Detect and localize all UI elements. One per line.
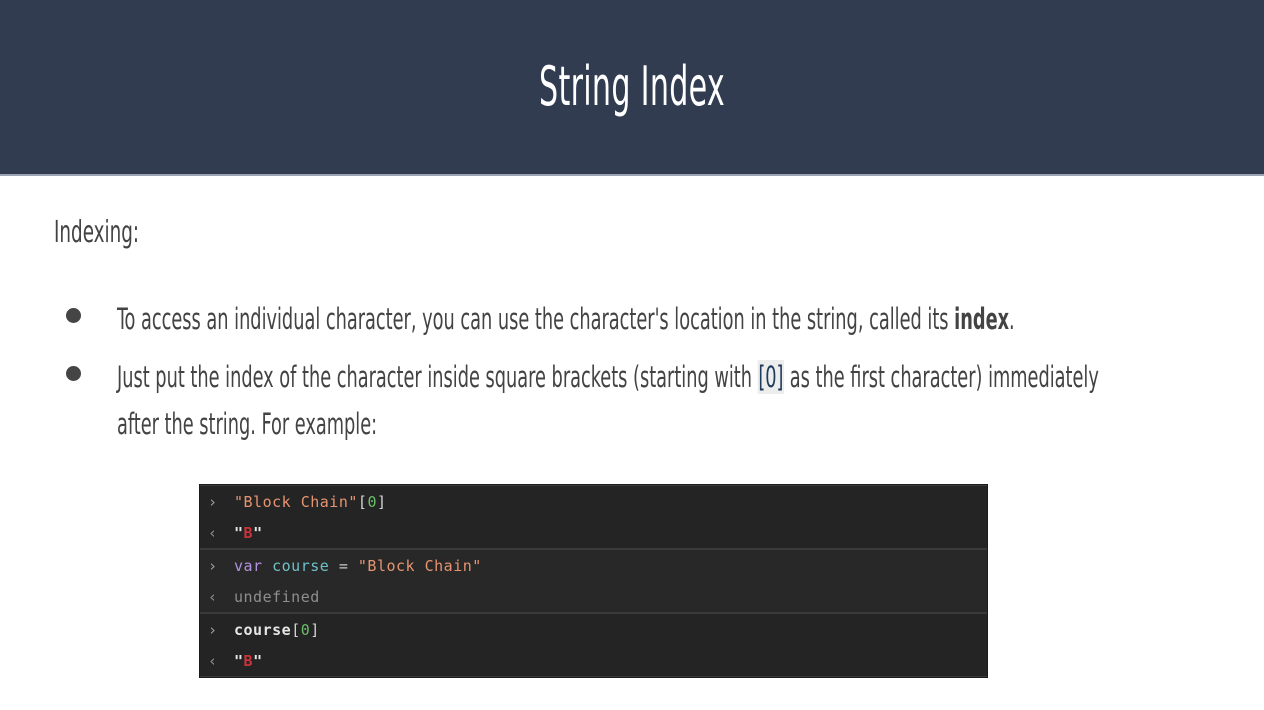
token-bracket-open: [ bbox=[358, 493, 368, 511]
devtools-console[interactable]: › "Block Chain"[0] ‹ "B" › var course = … bbox=[200, 485, 987, 677]
token-keyword: var bbox=[234, 557, 263, 575]
bullet-2-part-1: Just put the index of the character insi… bbox=[117, 360, 758, 394]
prompt-chevron-icon: › bbox=[208, 557, 234, 575]
console-input-2: var course = "Block Chain" bbox=[234, 557, 482, 575]
list-item: To access an individual character, you c… bbox=[54, 296, 1214, 344]
console-group-1: › "Block Chain"[0] ‹ "B" bbox=[200, 485, 987, 549]
bullet-1-keyword: index bbox=[954, 302, 1009, 336]
bullet-2-line-1: Just put the index of the character insi… bbox=[117, 354, 1099, 401]
bullet-2-text: Just put the index of the character insi… bbox=[117, 354, 1214, 448]
bullet-1-part-3: . bbox=[1009, 302, 1015, 336]
console-group-2: › var course = "Block Chain" ‹ undefined bbox=[200, 549, 987, 613]
token-undefined: undefined bbox=[234, 588, 320, 606]
page-title: String Index bbox=[539, 60, 725, 114]
console-group-3: › course[0] ‹ "B" bbox=[200, 613, 987, 677]
console-output-line: ‹ "B" bbox=[200, 517, 987, 548]
list-item: Just put the index of the character insi… bbox=[54, 354, 1214, 448]
console-input-3: course[0] bbox=[234, 621, 320, 639]
token-result-char: B bbox=[244, 524, 254, 542]
token-bracket-open: [ bbox=[291, 621, 301, 639]
prompt-chevron-icon: › bbox=[208, 493, 234, 511]
bullet-list: To access an individual character, you c… bbox=[54, 296, 1214, 458]
console-output-line: ‹ "B" bbox=[200, 645, 987, 676]
slide-body: Indexing: To access an individual charac… bbox=[0, 178, 1264, 710]
indexing-label-text: Indexing: bbox=[54, 216, 139, 249]
bullet-1-part-1: To access an individual character, you c… bbox=[117, 302, 954, 336]
slide-header: String Index bbox=[0, 0, 1264, 176]
bullet-dot-icon bbox=[66, 308, 81, 323]
bullet-2-part-3: as the first character) immediately bbox=[784, 360, 1099, 394]
output-chevron-icon: ‹ bbox=[208, 588, 234, 606]
token-quote-open: " bbox=[234, 524, 244, 542]
console-output-line: ‹ undefined bbox=[200, 581, 987, 612]
console-input-line[interactable]: › course[0] bbox=[200, 614, 987, 645]
output-chevron-icon: ‹ bbox=[208, 652, 234, 670]
output-chevron-icon: ‹ bbox=[208, 524, 234, 542]
token-quote-open: " bbox=[234, 652, 244, 670]
token-identifier: course bbox=[272, 557, 329, 575]
bullet-1-text: To access an individual character, you c… bbox=[117, 296, 1214, 343]
token-identifier: course bbox=[234, 621, 291, 639]
token-string: "Block Chain" bbox=[358, 557, 482, 575]
console-output-1: "B" bbox=[234, 524, 263, 542]
token-space bbox=[263, 557, 273, 575]
token-number: 0 bbox=[367, 493, 377, 511]
token-bracket-close: ] bbox=[377, 493, 387, 511]
token-bracket-close: ] bbox=[310, 621, 320, 639]
console-output-2: undefined bbox=[234, 588, 320, 606]
console-input-line[interactable]: › "Block Chain"[0] bbox=[200, 486, 987, 517]
bullet-1-line-1: To access an individual character, you c… bbox=[117, 296, 1015, 343]
console-input-1: "Block Chain"[0] bbox=[234, 493, 387, 511]
token-result-char: B bbox=[244, 652, 254, 670]
bullet-dot-icon bbox=[66, 366, 81, 381]
token-quote-close: " bbox=[253, 524, 263, 542]
bullet-2-line-2: after the string. For example: bbox=[117, 401, 377, 448]
console-output-3: "B" bbox=[234, 652, 263, 670]
token-quote-close: " bbox=[253, 652, 263, 670]
token-string: "Block Chain" bbox=[234, 493, 358, 511]
token-assign-operator: = bbox=[329, 557, 358, 575]
indexing-label: Indexing: bbox=[54, 216, 179, 249]
console-input-line[interactable]: › var course = "Block Chain" bbox=[200, 550, 987, 581]
prompt-chevron-icon: › bbox=[208, 621, 234, 639]
token-number: 0 bbox=[301, 621, 311, 639]
bullet-2-index-code: [0] bbox=[758, 360, 784, 394]
